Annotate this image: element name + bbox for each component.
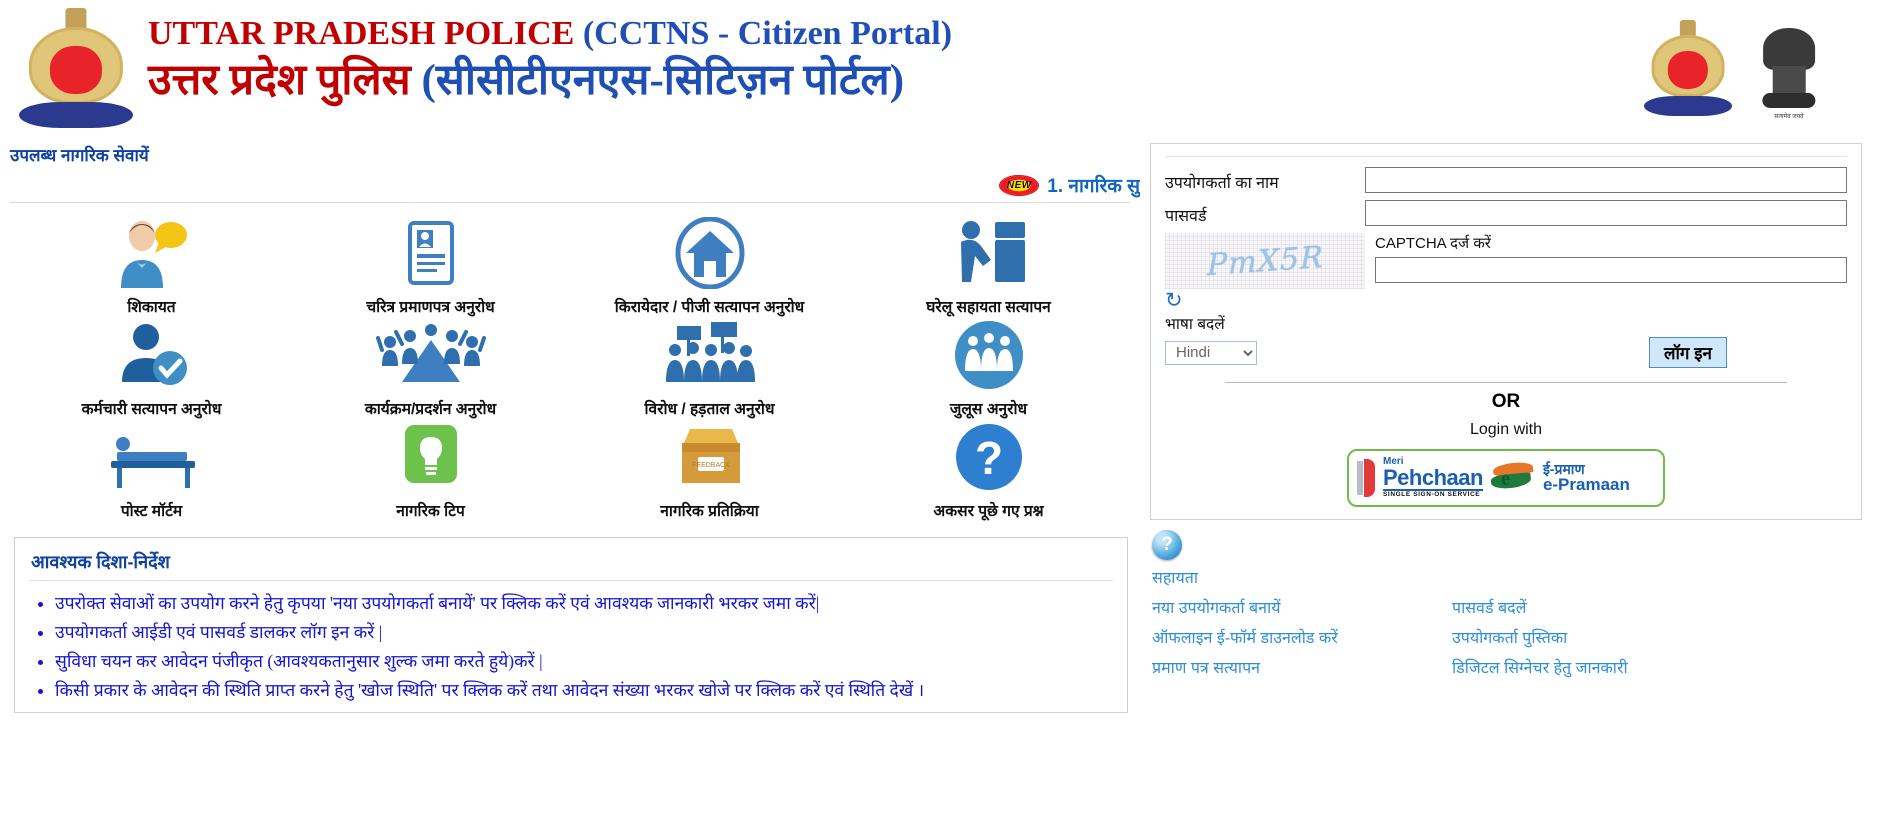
login-panel: उपयोगकर्ता का नाम पासवर्ड PmX5R CAPTCHA … xyxy=(1150,143,1862,520)
service-label: शिकायत xyxy=(12,295,291,317)
procession-icon xyxy=(849,319,1128,391)
login-top-divider xyxy=(1165,156,1847,157)
help-link-digital-signature-info[interactable]: डिजिटल सिग्नेचर हेतु जानकारी xyxy=(1452,656,1862,678)
logo-grey-bar xyxy=(1357,461,1363,495)
service-label: घरेलू सहायता सत्यापन xyxy=(849,295,1128,317)
protest-icon xyxy=(570,319,849,391)
help-link-offline-eform[interactable]: ऑफलाइन ई-फॉर्म डाउनलोड करें xyxy=(1152,626,1452,648)
username-row: उपयोगकर्ता का नाम xyxy=(1165,167,1847,193)
emblem-center xyxy=(1668,51,1708,89)
or-text: OR xyxy=(1165,391,1847,413)
meri-pehchaan-text: Meri Pehchaan SINGLE SIGN-ON SERVICE xyxy=(1383,457,1483,499)
service-label: नागरिक प्रतिक्रिया xyxy=(570,499,849,521)
help-link-change-password[interactable]: पासवर्ड बदलें xyxy=(1452,596,1862,618)
service-tile-protest-request[interactable]: विरोध / हड़ताल अनुरोध xyxy=(570,319,849,419)
marquee-text[interactable]: 1. नागरिक सु xyxy=(1047,172,1140,198)
captcha-input-label: CAPTCHA दर्ज करें xyxy=(1375,233,1847,253)
epramaan-hindi-label: ई-प्रमाण xyxy=(1543,462,1630,477)
language-and-login-row: Hindi लॉग इन xyxy=(1165,337,1847,368)
postmortem-bed-icon xyxy=(12,421,291,493)
guidelines-divider xyxy=(29,580,1113,581)
epramaan-english-label: e-Pramaan xyxy=(1543,476,1630,494)
faq-question-icon: ? xyxy=(849,421,1128,493)
up-police-emblem-left xyxy=(14,10,138,130)
help-link-user-manual[interactable]: उपयोगकर्ता पुस्तिका xyxy=(1452,626,1862,648)
username-label: उपयोगकर्ता का नाम xyxy=(1165,167,1365,193)
ashoka-emblem: सत्यमेव जयते xyxy=(1752,22,1826,118)
title-hindi: उत्तर प्रदेश पुलिस (सीसीटीएनएस-सिटिज़न प… xyxy=(148,54,952,108)
sso-tagline: SINGLE SIGN-ON SERVICE xyxy=(1383,489,1483,499)
captcha-row: PmX5R CAPTCHA दर्ज करें xyxy=(1165,233,1847,289)
epramaan-logo-icon: e xyxy=(1491,461,1535,495)
service-label: विरोध / हड़ताल अनुरोध xyxy=(570,397,849,419)
help-link-new-user[interactable]: नया उपयोगकर्ता बनायें xyxy=(1152,596,1452,618)
service-tile-citizen-tip[interactable]: नागरिक टिप xyxy=(291,421,570,521)
event-crowd-icon xyxy=(291,319,570,391)
ashoka-base xyxy=(1762,93,1815,108)
service-tile-citizen-feedback[interactable]: FEEDBACK नागरिक प्रतिक्रिया xyxy=(570,421,849,521)
marquee-banner: NEW 1. नागरिक सु xyxy=(0,166,1140,200)
help-link-sahayata[interactable]: सहायता xyxy=(1152,566,1862,588)
service-label: कार्यक्रम/प्रदर्शन अनुरोध xyxy=(291,397,570,419)
main-content: उपलब्ध नागरिक सेवायें NEW 1. नागरिक सु xyxy=(0,137,1882,713)
guidelines-title: आवश्यक दिशा-निर्देश xyxy=(31,550,1113,574)
service-label: अकसर पूछे गए प्रश्न xyxy=(849,499,1128,521)
svg-text:?: ? xyxy=(974,432,1002,484)
bulb-tip-icon xyxy=(291,421,570,493)
service-label: किरायेदार / पीजी सत्यापन अनुरोध xyxy=(570,295,849,317)
captcha-input[interactable] xyxy=(1375,257,1847,283)
password-input[interactable] xyxy=(1365,200,1847,226)
up-police-emblem-right xyxy=(1640,22,1736,118)
services-column: उपलब्ध नागरिक सेवायें NEW 1. नागरिक सु xyxy=(0,137,1140,713)
service-tile-employee-verification[interactable]: कर्मचारी सत्यापन अनुरोध xyxy=(12,319,291,419)
ashoka-lions xyxy=(1763,28,1815,70)
username-input[interactable] xyxy=(1365,167,1847,193)
language-select[interactable]: Hindi xyxy=(1165,341,1257,365)
title-hindi-red: उत्तर प्रदेश पुलिस xyxy=(148,57,411,104)
title-hindi-blue: (सीसीटीएनएस-सिटिज़न पोर्टल) xyxy=(421,57,904,104)
language-label: भाषा बदलें xyxy=(1165,312,1847,334)
title-english: UTTAR PRADESH POLICE (CCTNS - Citizen Po… xyxy=(148,14,952,54)
service-tile-event-request[interactable]: कार्यक्रम/प्रदर्शन अनुरोध xyxy=(291,319,570,419)
service-tile-tenant-verification[interactable]: किरायेदार / पीजी सत्यापन अनुरोध xyxy=(570,217,849,317)
emblem-ribbon xyxy=(19,102,133,127)
password-row: पासवर्ड xyxy=(1165,200,1847,226)
house-icon xyxy=(570,217,849,289)
epramaan-letter: e xyxy=(1501,468,1510,491)
marquee-content: NEW 1. नागरिक सु xyxy=(1000,172,1140,198)
page-title: उपलब्ध नागरिक सेवायें xyxy=(0,137,1140,166)
service-label: कर्मचारी सत्यापन अनुरोध xyxy=(12,397,291,419)
service-tile-domestic-help[interactable]: घरेलू सहायता सत्यापन xyxy=(849,217,1128,317)
help-links-grid: नया उपयोगकर्ता बनायें पासवर्ड बदलें ऑफला… xyxy=(1152,596,1862,678)
service-tile-procession-request[interactable]: जुलूस अनुरोध xyxy=(849,319,1128,419)
new-badge-icon: NEW xyxy=(1000,176,1038,195)
emblem-ribbon xyxy=(1644,96,1732,116)
service-tile-faq[interactable]: ? अकसर पूछे गए प्रश्न xyxy=(849,421,1128,521)
meri-pehchaan-epramaan-banner[interactable]: Meri Pehchaan SINGLE SIGN-ON SERVICE e ई… xyxy=(1347,449,1665,507)
domestic-help-icon xyxy=(849,217,1128,289)
complaint-person-icon xyxy=(12,217,291,289)
logo-red-bar xyxy=(1364,459,1375,497)
title-english-red: UTTAR PRADESH POLICE xyxy=(148,15,574,52)
epramaan-green-swoosh xyxy=(1490,472,1531,489)
id-card-icon xyxy=(291,217,570,289)
ashoka-column xyxy=(1773,66,1806,95)
meri-pehchaan-logo-icon xyxy=(1357,459,1375,497)
service-tile-postmortem[interactable]: पोस्ट मॉर्टम xyxy=(12,421,291,521)
captcha-image: PmX5R xyxy=(1165,233,1365,289)
guideline-item: सुविधा चयन कर आवेदन पंजीकृत (आवश्यकतानुस… xyxy=(55,647,1113,676)
help-question-icon[interactable]: ? xyxy=(1152,530,1182,560)
login-column: उपयोगकर्ता का नाम पासवर्ड PmX5R CAPTCHA … xyxy=(1140,137,1862,678)
service-label: नागरिक टिप xyxy=(291,499,570,521)
page-header: UTTAR PRADESH POLICE (CCTNS - Citizen Po… xyxy=(0,0,1882,137)
epramaan-text: ई-प्रमाण e-Pramaan xyxy=(1543,462,1630,495)
header-titles: UTTAR PRADESH POLICE (CCTNS - Citizen Po… xyxy=(148,14,952,108)
services-grid: शिकायत चरित्र प्रमाणपत्र अनुरोध xyxy=(0,203,1140,527)
ashoka-motto: सत्यमेव जयते xyxy=(1752,112,1826,120)
feedback-box-icon: FEEDBACK xyxy=(570,421,849,493)
service-label: जुलूस अनुरोध xyxy=(849,397,1128,419)
login-button[interactable]: लॉग इन xyxy=(1649,337,1727,368)
guidelines-list: उपरोक्त सेवाओं का उपयोग करने हेतु कृपया … xyxy=(29,589,1113,705)
login-with-text: Login with xyxy=(1165,421,1847,439)
guideline-item: उपयोगकर्ता आईडी एवं पासवर्ड डालकर लॉग इन… xyxy=(55,618,1113,647)
help-links-block: ? सहायता नया उपयोगकर्ता बनायें पासवर्ड ब… xyxy=(1150,520,1862,678)
password-label: पासवर्ड xyxy=(1165,200,1365,226)
help-link-certificate-verification[interactable]: प्रमाण पत्र सत्यापन xyxy=(1152,656,1452,678)
refresh-captcha-icon[interactable]: ↻ xyxy=(1165,291,1187,311)
captcha-text: PmX5R xyxy=(1207,239,1324,282)
guidelines-box: आवश्यक दिशा-निर्देश उपरोक्त सेवाओं का उप… xyxy=(14,537,1128,713)
captcha-input-group: CAPTCHA दर्ज करें xyxy=(1365,233,1847,283)
guideline-item: किसी प्रकार के आवेदन की स्थिति प्राप्त क… xyxy=(55,676,1113,705)
service-label: चरित्र प्रमाणपत्र अनुरोध xyxy=(291,295,570,317)
service-tile-character-certificate[interactable]: चरित्र प्रमाणपत्र अनुरोध xyxy=(291,217,570,317)
service-tile-complaint[interactable]: शिकायत xyxy=(12,217,291,317)
or-divider xyxy=(1225,382,1787,383)
service-label: पोस्ट मॉर्टम xyxy=(12,499,291,521)
header-right-logos: सत्यमेव जयते xyxy=(1640,22,1826,118)
pehchaan-label: Pehchaan xyxy=(1383,467,1483,489)
employee-verify-icon xyxy=(12,319,291,391)
emblem-center xyxy=(50,46,102,94)
title-english-blue: (CCTNS - Citizen Portal) xyxy=(583,15,952,52)
svg-text:FEEDBACK: FEEDBACK xyxy=(692,462,730,469)
guideline-item: उपरोक्त सेवाओं का उपयोग करने हेतु कृपया … xyxy=(55,589,1113,618)
